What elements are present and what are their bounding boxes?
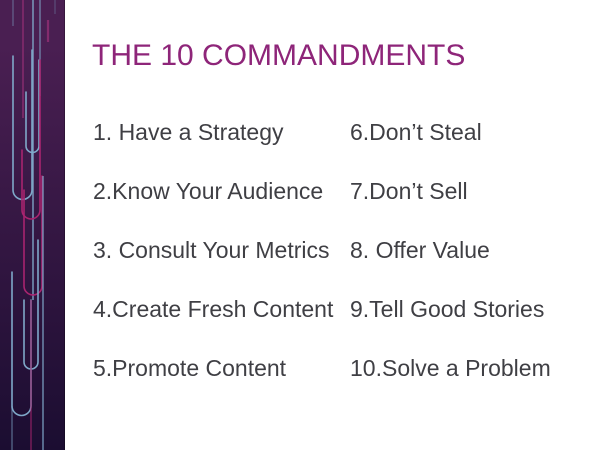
list-item: 2.Know Your Audience xyxy=(93,171,348,230)
page-title: THE 10 COMMANDMENTS xyxy=(92,38,465,74)
list-item: 1. Have a Strategy xyxy=(93,112,348,171)
list-item: 3. Consult Your Metrics xyxy=(93,230,348,289)
commandments-list: 1. Have a Strategy 2.Know Your Audience … xyxy=(0,112,600,402)
list-item: 10.Solve a Problem xyxy=(350,348,598,407)
list-item: 8. Offer Value xyxy=(350,230,598,289)
commandments-column-left: 1. Have a Strategy 2.Know Your Audience … xyxy=(93,112,348,407)
list-item: 6.Don’t Steal xyxy=(350,112,598,171)
commandments-column-right: 6.Don’t Steal 7.Don’t Sell 8. Offer Valu… xyxy=(350,112,598,407)
list-item: 5.Promote Content xyxy=(93,348,348,407)
list-item: 4.Create Fresh Content xyxy=(93,289,348,348)
list-item: 9.Tell Good Stories xyxy=(350,289,598,348)
slide-canvas: THE 10 COMMANDMENTS 1. Have a Strategy 2… xyxy=(0,0,600,450)
list-item: 7.Don’t Sell xyxy=(350,171,598,230)
